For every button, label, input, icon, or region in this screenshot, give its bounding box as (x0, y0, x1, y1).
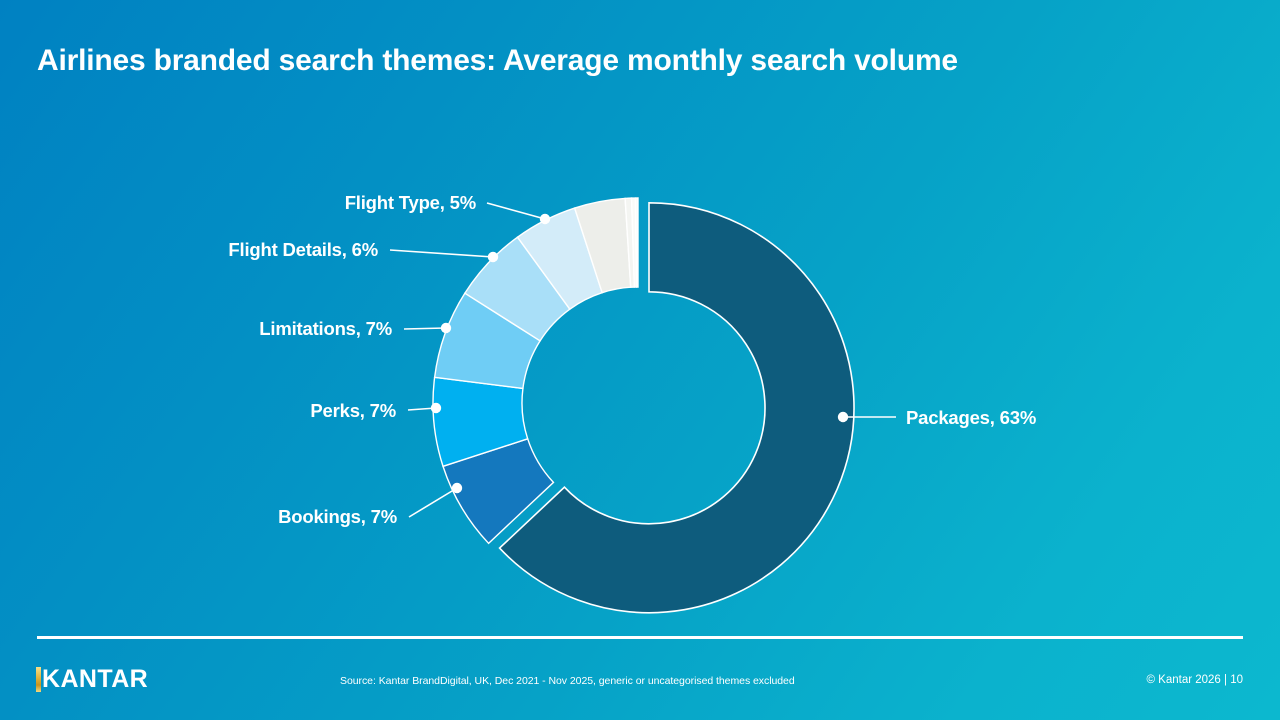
leader-dot (838, 412, 848, 422)
slice-label: Perks, 7% (310, 400, 396, 421)
leader-dot (441, 323, 451, 333)
logo-wordmark: ANTAR (60, 665, 148, 694)
leader-line (390, 250, 493, 257)
donut-chart: Flight Type, 5%Flight Details, 6%Limitat… (0, 0, 1280, 720)
leader-line (409, 488, 457, 517)
kantar-logo: KANTAR (36, 665, 148, 693)
leader-line (487, 203, 545, 219)
leader-dot (540, 214, 550, 224)
donut-slice-other-d[interactable] (635, 198, 638, 287)
logo-initial: K (42, 665, 60, 694)
slice-label: Packages, 63% (906, 407, 1036, 428)
slice-label: Flight Details, 6% (228, 239, 378, 260)
slice-label: Bookings, 7% (278, 506, 397, 527)
slice-label: Flight Type, 5% (345, 192, 476, 213)
leader-dot (452, 483, 462, 493)
source-note: Source: Kantar BrandDigital, UK, Dec 202… (340, 675, 940, 687)
donut-chart-svg: Flight Type, 5%Flight Details, 6%Limitat… (0, 0, 1280, 720)
leader-dot (431, 403, 441, 413)
logo-gold-bar (36, 667, 41, 692)
slice-label: Limitations, 7% (259, 318, 392, 339)
leader-dot (488, 252, 498, 262)
leader-line (404, 328, 446, 329)
copyright-note: © Kantar 2026 | 10 (1147, 674, 1244, 686)
footer-divider (37, 636, 1243, 639)
